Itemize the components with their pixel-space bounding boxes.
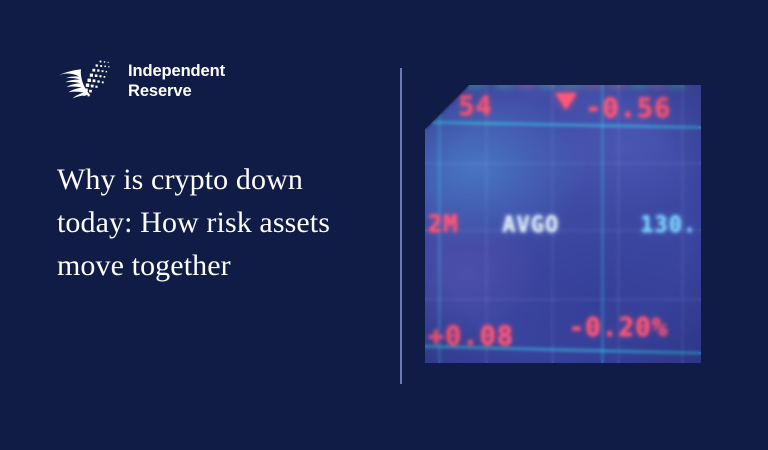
brand-name-line-1: Independent xyxy=(128,61,225,81)
brand-logo[interactable]: Independent Reserve xyxy=(57,58,225,104)
brand-wordmark: Independent Reserve xyxy=(128,61,225,101)
hero-image: 54 -0.56 2M AVGO 130. +0.08 -0.20% xyxy=(425,85,701,363)
left-content-column: Independent Reserve Why is crypto down t… xyxy=(0,0,400,450)
ticker-label-price: 130. xyxy=(640,213,697,238)
ticker-label-symbol: AVGO xyxy=(502,213,559,238)
ticker-label-percent: -0.20% xyxy=(569,313,669,343)
ticker-label-delta: +0.08 xyxy=(428,321,514,352)
brand-name-line-2: Reserve xyxy=(128,81,225,101)
page-title: Why is crypto down today: How risk asset… xyxy=(57,158,382,288)
vertical-divider xyxy=(400,68,402,384)
wing-pixel-dissolve-icon xyxy=(57,58,119,104)
ticker-label-change: -0.56 xyxy=(585,93,671,124)
ticker-label-volume: 2M xyxy=(428,210,459,238)
down-triangle-icon xyxy=(555,93,577,110)
article-hero-card: Independent Reserve Why is crypto down t… xyxy=(0,0,768,450)
ticker-label-54: 54 xyxy=(458,91,493,122)
